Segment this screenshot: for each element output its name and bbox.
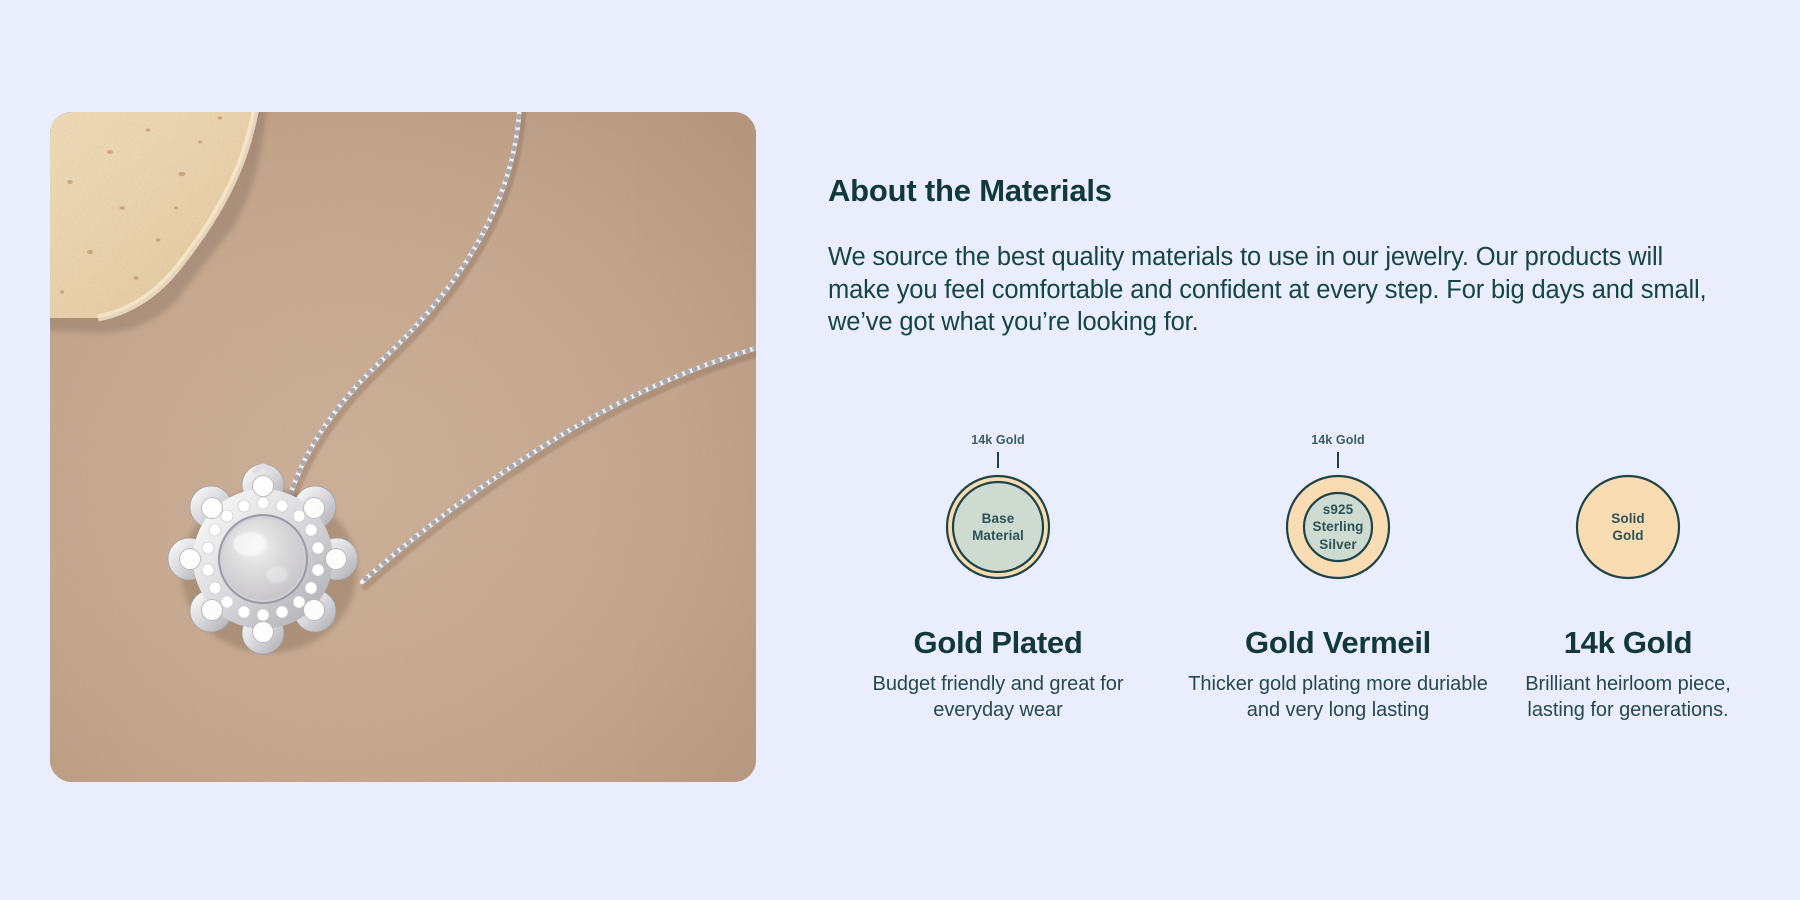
material-description: Thicker gold plating more duriable and v…	[1183, 672, 1493, 723]
materials-section-page: About the Materials We source the best q…	[0, 0, 1800, 900]
ring-diagram-14k-gold: Solid Gold	[1575, 474, 1681, 580]
page-title: About the Materials	[828, 172, 1748, 209]
material-description: Brilliant heirloom piece, lasting for ge…	[1508, 672, 1748, 723]
callout-14k-gold: 14k Gold	[971, 434, 1025, 474]
ring-cross-section-icon	[1575, 474, 1681, 580]
material-card-14k-gold[interactable]: Solid Gold 14k Gold Brilliant heirloom p…	[1508, 434, 1748, 723]
callout-stem-line	[1337, 452, 1339, 468]
ring-cross-section-icon	[945, 474, 1051, 580]
callout-14k-gold: 14k Gold	[1311, 434, 1365, 474]
callout-stem-line	[997, 452, 999, 468]
product-photo-card[interactable]	[50, 112, 756, 782]
material-card-gold-plated[interactable]: 14k Gold Base Material Gold Plated Budge…	[828, 434, 1168, 723]
callout-label: 14k Gold	[971, 434, 1025, 447]
moonstone-necklace-photo	[50, 112, 756, 782]
material-title: Gold Vermeil	[1245, 626, 1431, 660]
moonstone-halo-pendant	[168, 464, 358, 654]
materials-content: About the Materials We source the best q…	[828, 112, 1748, 782]
material-description: Budget friendly and great for everyday w…	[848, 672, 1148, 723]
callout-label: 14k Gold	[1311, 434, 1365, 447]
material-title: 14k Gold	[1564, 626, 1693, 660]
material-card-gold-vermeil[interactable]: 14k Gold s925 Sterling Silver Gold Verme…	[1168, 434, 1508, 723]
ring-diagram-gold-vermeil: s925 Sterling Silver	[1285, 474, 1391, 580]
ring-cross-section-icon	[1285, 474, 1391, 580]
material-title: Gold Plated	[914, 626, 1083, 660]
intro-paragraph: We source the best quality materials to …	[828, 241, 1718, 339]
ring-diagram-gold-plated: Base Material	[945, 474, 1051, 580]
materials-list: 14k Gold Base Material Gold Plated Budge…	[828, 434, 1748, 723]
